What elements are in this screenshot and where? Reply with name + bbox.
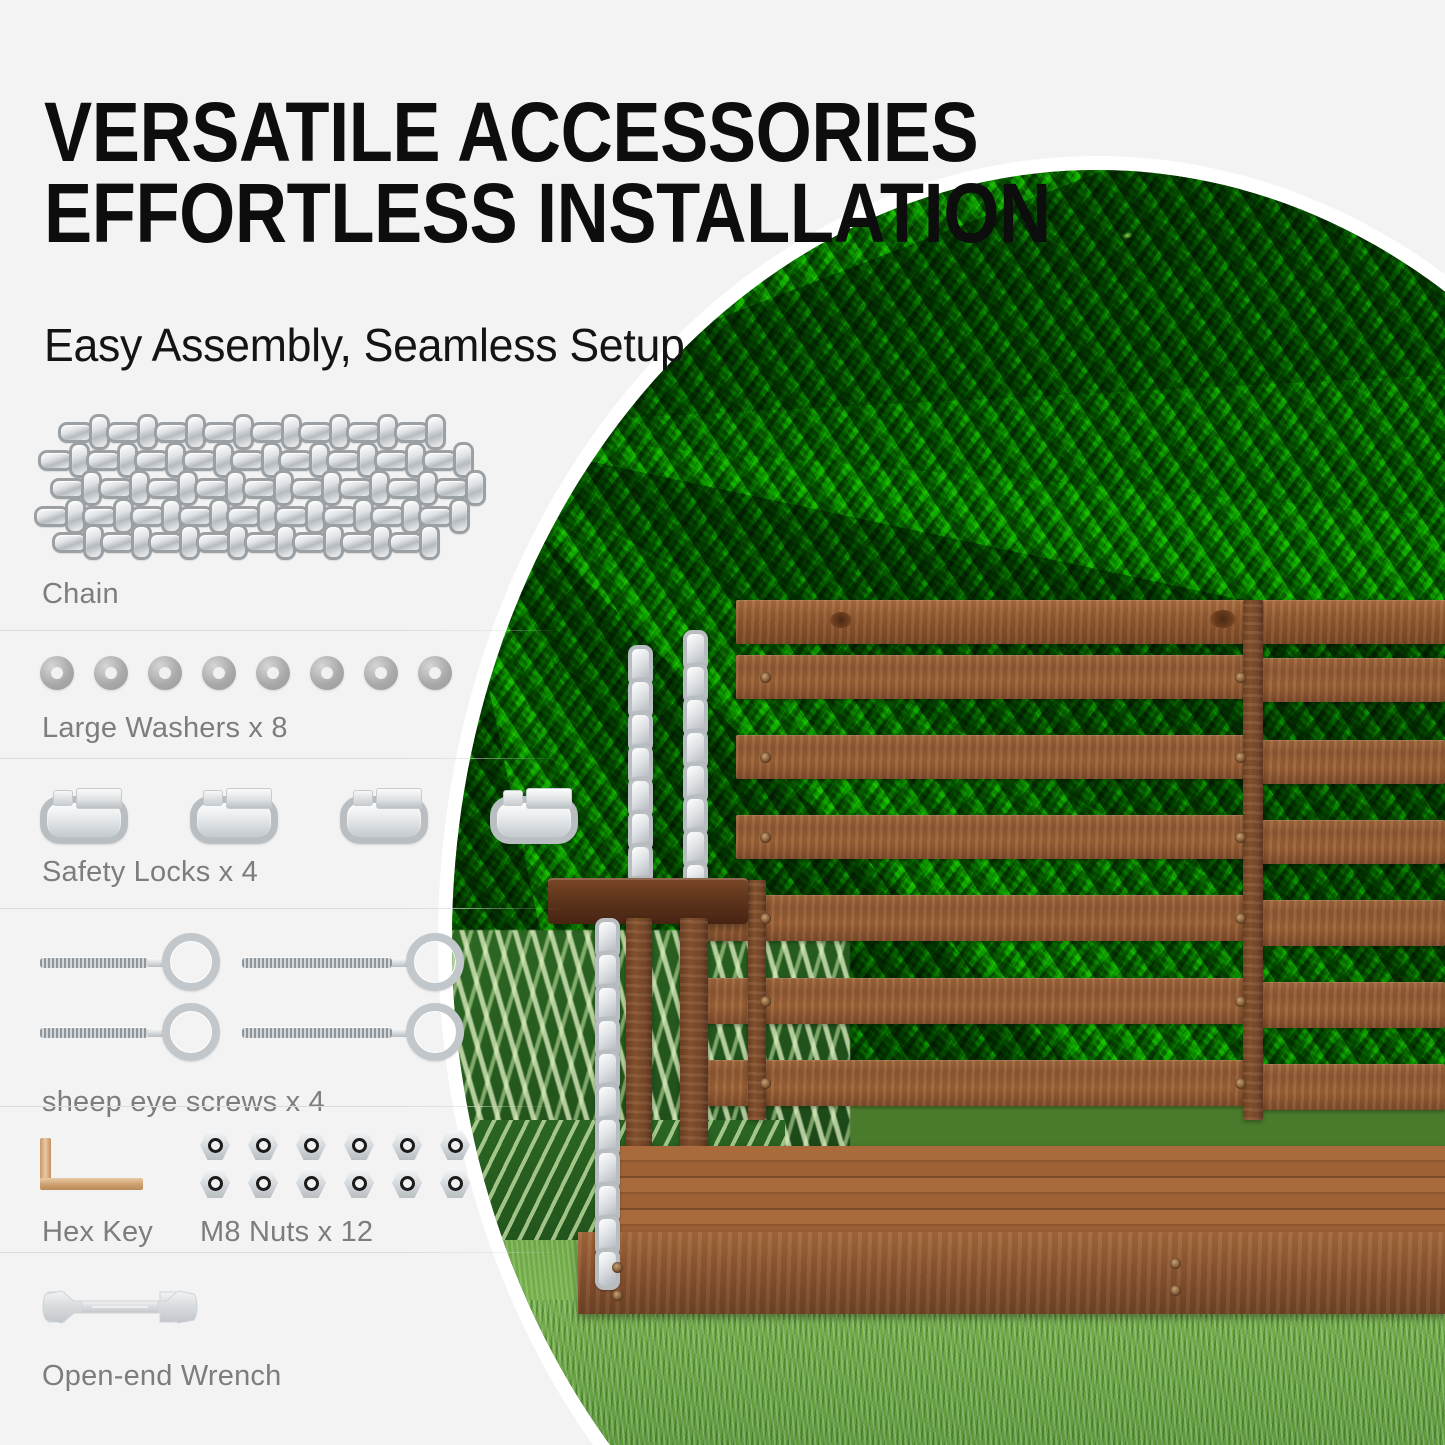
screw-head [760, 752, 771, 763]
backrest-slat [1262, 740, 1445, 784]
armrest-front-post [626, 918, 652, 1158]
hex-nut-icon [200, 1130, 470, 1206]
screw-head [1235, 832, 1246, 843]
page-title: VERSATILE ACCESSORIES EFFORTLESS INSTALL… [44, 92, 913, 255]
backrest-slat [1262, 820, 1445, 864]
backrest-slat [700, 895, 1256, 941]
eye-screw-icon [40, 934, 460, 1060]
accessory-label-safety-locks: Safety Locks x 4 [42, 856, 600, 889]
quick-link-icon [40, 786, 600, 834]
screw-head [760, 996, 771, 1007]
accessory-label-hex-key: Hex Key [42, 1216, 200, 1249]
accessory-label-m8-nuts: M8 Nuts x 12 [200, 1216, 373, 1249]
hanging-chain-rear [628, 645, 653, 909]
accessory-item-washers: Large Washers x 8 [0, 630, 600, 758]
accessory-item-chain: Chain [0, 408, 600, 630]
screw-head [612, 1262, 623, 1273]
accessory-label-wrench: Open-end Wrench [42, 1360, 600, 1393]
hex-key-icon [40, 1138, 145, 1194]
seat-front-apron [578, 1232, 1445, 1314]
infographic-root: VERSATILE ACCESSORIES EFFORTLESS INSTALL… [0, 0, 1445, 1445]
screw-head [1235, 913, 1246, 924]
backrest-slat [736, 735, 1256, 779]
accessory-label-washers: Large Washers x 8 [42, 712, 600, 745]
armrest-rear-post [680, 918, 708, 1148]
accessory-item-hexkey-nuts: Hex Key M8 Nuts x 12 [0, 1106, 600, 1252]
wood-knot [1210, 610, 1236, 628]
washer-icon [40, 656, 600, 690]
screw-head [1170, 1258, 1181, 1269]
seat-slats [612, 1146, 1445, 1238]
accessory-label-chain: Chain [42, 578, 600, 611]
backrest-vertical-stile [1243, 600, 1263, 1120]
wood-knot [830, 612, 852, 628]
headline-line-1: VERSATILE ACCESSORIES [44, 92, 913, 173]
accessory-item-eye-screws: sheep eye screws x 4 [0, 908, 600, 1106]
screw-head [760, 672, 771, 683]
screw-head [760, 832, 771, 843]
backrest-slat [700, 1060, 1256, 1106]
list-divider [0, 1106, 560, 1107]
headline-line-2: EFFORTLESS INSTALLATION [44, 173, 913, 254]
backrest-slat [1262, 658, 1445, 702]
chain-icon [28, 408, 568, 558]
backrest-slat [736, 815, 1256, 859]
list-divider [0, 1252, 560, 1253]
backrest-slat [1262, 982, 1445, 1028]
screw-head [1235, 752, 1246, 763]
screw-head [760, 913, 771, 924]
backrest-slat [1262, 900, 1445, 946]
backrest-slat [736, 655, 1256, 699]
screw-head [1170, 1285, 1181, 1296]
accessory-item-wrench: Open-end Wrench [0, 1252, 600, 1402]
open-end-wrench-icon [40, 1278, 200, 1340]
accessory-item-safety-locks: Safety Locks x 4 [0, 758, 600, 908]
list-divider [0, 908, 560, 909]
accessories-list: Chain Large Washers x 8 Safety Locks x 4 [0, 398, 600, 1402]
backrest-slat [700, 978, 1256, 1024]
list-divider [0, 758, 560, 759]
hanging-chain-mid [683, 630, 708, 894]
page-subtitle: Easy Assembly, Seamless Setup [44, 318, 685, 372]
screw-head [612, 1290, 623, 1301]
screw-head [1235, 672, 1246, 683]
backrest-slat [1262, 1064, 1445, 1110]
screw-head [1235, 996, 1246, 1007]
list-divider [0, 630, 560, 631]
screw-head [760, 1078, 771, 1089]
screw-head [1235, 1078, 1246, 1089]
